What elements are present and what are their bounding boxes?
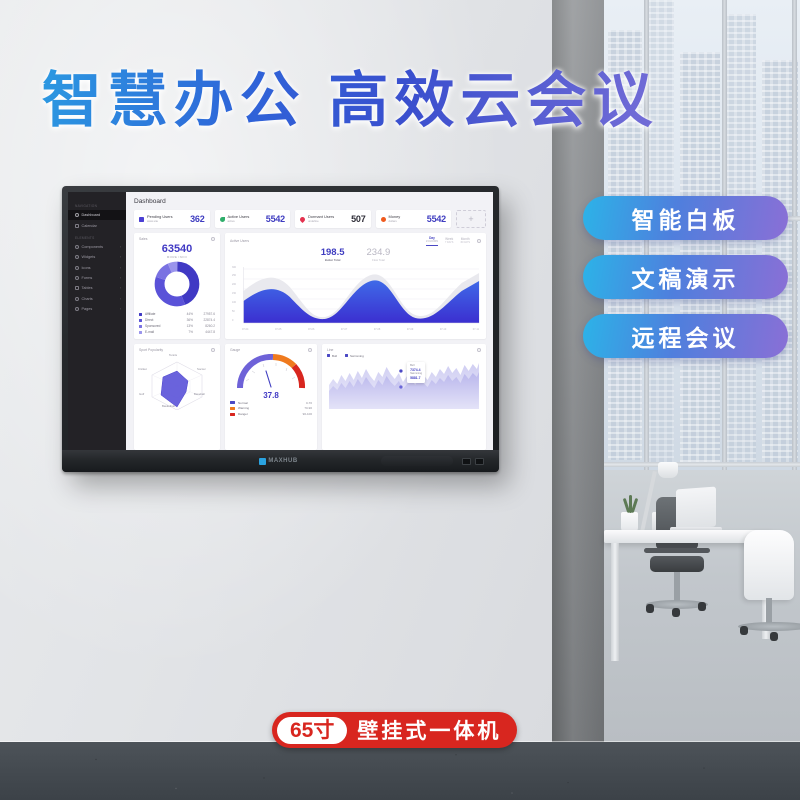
legend-label: Normal: [238, 401, 306, 405]
donut-chart: [139, 261, 215, 307]
stat-value: 5542: [266, 214, 285, 224]
page-icon: [75, 307, 79, 311]
chevron-right-icon: ›: [120, 297, 121, 301]
tab-sublabel: 30 DAYS: [460, 242, 470, 245]
white-office-chair-back: [744, 530, 794, 600]
y-tick: 100: [232, 301, 236, 304]
stat-value: 362: [190, 214, 204, 224]
sales-more-info: MORE INFO: [139, 255, 215, 259]
page-title: 智慧办公 高效云会议: [0, 62, 700, 140]
sidebar-item-widgets[interactable]: Widgets ›: [68, 252, 126, 262]
legend-color-swatch: [345, 354, 348, 357]
stat-sublabel: www.site: [147, 219, 158, 223]
stat-card-pending-users[interactable]: Pending Users www.site 362: [134, 210, 210, 228]
sidebar-item-label: Components: [82, 245, 104, 249]
feature-badge-whiteboard[interactable]: 智能白板: [583, 196, 788, 240]
gauge-legend-item: Danger 90-100: [230, 411, 312, 417]
sidebar-item-components[interactable]: Components ›: [68, 242, 126, 252]
widget-icon: [75, 255, 79, 259]
logo-mark-icon: [259, 458, 266, 465]
legend-color-swatch: [327, 354, 330, 357]
line-legend: Bull Swimming: [327, 354, 481, 358]
concrete-floor: [0, 742, 800, 800]
chevron-right-icon: ›: [120, 286, 121, 290]
chevron-right-icon: ›: [120, 266, 121, 270]
legend-color-swatch: [139, 313, 142, 316]
stat-label: Dormant Users: [308, 214, 334, 219]
legend-value: 8260.2: [193, 324, 215, 328]
line-card: Line Bull Swimming: [322, 344, 486, 450]
star-icon: [75, 266, 79, 270]
legend-item: E-mail 7% 4447.8: [139, 329, 215, 335]
add-card-button[interactable]: +: [456, 210, 486, 228]
legend-item-swimming[interactable]: Swimming: [345, 354, 364, 358]
card-title: Active Users: [230, 239, 249, 243]
stat-value: 5542: [427, 214, 446, 224]
dark-office-chair-seat: [650, 556, 704, 572]
sport-popularity-card: Sport Popularity: [134, 344, 220, 450]
form-icon: [75, 276, 79, 280]
active-users-card: Active Users Day 24 HOURS Week 7 DAYS: [225, 233, 486, 339]
totals-row: 198.5 Butter Total 234.9 Flow Total: [230, 248, 481, 262]
legend-item-bull[interactable]: Bull: [327, 354, 337, 358]
legend-label: Swimming: [350, 354, 364, 358]
flow-total-value: 234.9: [367, 248, 391, 258]
sidebar-item-label: Forms: [82, 276, 93, 280]
stat-card-row: Pending Users www.site 362 Active Users …: [134, 210, 486, 228]
feature-badge-label: 智能白板: [632, 201, 740, 235]
square-icon: [139, 217, 144, 222]
stat-card-money[interactable]: Money dollars 5542: [376, 210, 452, 228]
gauge-card: Gauge: [225, 344, 317, 450]
sidebar-item-label: Icons: [82, 266, 91, 270]
x-tick: 07-11: [473, 328, 479, 331]
flow-total-label: Flow Total: [367, 258, 391, 262]
sidebar-item-label: Widgets: [82, 255, 96, 259]
sidebar-item-forms[interactable]: Forms ›: [68, 273, 126, 283]
display-bottom-bezel: MAXHUB: [62, 450, 499, 472]
brand-logo: MAXHUB: [259, 458, 297, 465]
sidebar-item-label: Pages: [82, 307, 93, 311]
card-title: Sales: [139, 237, 147, 241]
stat-label: Pending Users: [147, 214, 173, 219]
dashboard-main: Dashboard Pending Users www.site 362: [126, 192, 493, 450]
plant-pot: [621, 512, 638, 532]
legend-value: 22874.4: [193, 318, 215, 322]
tab-month[interactable]: Month 30 DAYS: [460, 238, 470, 245]
port-usb: [462, 458, 471, 465]
sidebar-item-charts[interactable]: Charts ›: [68, 294, 126, 304]
laptop-screen: [676, 487, 716, 530]
table-icon: [75, 286, 79, 290]
radar-axis-label: Golf: [139, 392, 144, 396]
logo-text: MAXHUB: [268, 458, 297, 464]
chart-icon: [75, 297, 79, 301]
legend-percent: 13%: [179, 324, 193, 328]
radar-axis-label: Basketball: [162, 404, 175, 408]
card-title: Sport Popularity: [139, 348, 163, 352]
tab-sublabel: 24 HOURS: [426, 241, 438, 244]
port-hdmi: [475, 458, 484, 465]
x-tick: 07-07: [341, 328, 347, 331]
legend-color-swatch: [139, 319, 142, 322]
legend-label: Direct: [145, 318, 179, 322]
legend-label: Affiliate: [145, 312, 179, 316]
dashboard-title: Dashboard: [134, 198, 486, 205]
chevron-right-icon: ›: [120, 245, 121, 249]
sidebar-item-tables[interactable]: Tables ›: [68, 283, 126, 293]
chevron-right-icon: ›: [120, 307, 121, 311]
y-tick: 0: [232, 319, 233, 322]
gear-icon[interactable]: [477, 239, 481, 243]
stat-sublabel: active: [228, 219, 235, 223]
radar-axis-label: Tennis: [169, 353, 177, 357]
y-tick: 300: [232, 266, 236, 269]
gauge-legend-item: Warning 70-90: [230, 406, 312, 412]
sidebar-item-label: Charts: [82, 297, 93, 301]
x-tick: 07-05: [275, 328, 281, 331]
x-axis: 07-04 07-05 07-06 07-07 07-08 07-09 07-1…: [230, 327, 481, 331]
feature-badge-list: 智能白板 文稿演示 远程会议: [583, 196, 788, 373]
chevron-right-icon: ›: [120, 276, 121, 280]
desk-lamp-head: [658, 462, 678, 478]
y-tick: 250: [232, 274, 236, 277]
legend-percent: 36%: [179, 318, 193, 322]
gear-icon[interactable]: [211, 348, 215, 352]
legend-color-swatch: [139, 331, 142, 334]
sidebar-item-calendar[interactable]: Calendar: [68, 220, 126, 230]
legend-color-swatch: [230, 413, 235, 416]
display-screen: NAVIGATION Dashboard Calendar ELEMENTS C…: [68, 192, 493, 450]
leaf-icon: [220, 217, 225, 222]
gear-icon[interactable]: [211, 237, 215, 241]
sidebar-item-pages[interactable]: Pages ›: [68, 304, 126, 314]
legend-range: 70-90: [304, 406, 312, 410]
legend-range: 0-70: [306, 401, 312, 405]
screen-size-badge: 65寸: [277, 717, 347, 744]
plus-icon: +: [468, 214, 473, 224]
card-title: Gauge: [230, 348, 240, 352]
feature-badge-presentation[interactable]: 文稿演示: [583, 255, 788, 299]
radar-axis-label: Soccer: [197, 367, 206, 371]
butter-total-value: 198.5: [321, 248, 345, 258]
heart-icon: [299, 215, 306, 222]
radar-axis-label: Baseball: [194, 392, 205, 396]
stat-sublabel: dollars: [389, 219, 397, 223]
feature-badge-remote-meeting[interactable]: 远程会议: [583, 314, 788, 358]
legend-range: 90-100: [303, 412, 312, 416]
card-title: Line: [327, 348, 333, 352]
stat-card-dormant-users[interactable]: Dormant Users undefine 507: [295, 210, 371, 228]
legend-label: E-mail: [145, 330, 179, 334]
tab-day[interactable]: Day 24 HOURS: [426, 237, 438, 246]
y-tick: 50: [232, 310, 235, 313]
sidebar-section-navigation: NAVIGATION: [68, 199, 126, 210]
x-tick: 07-06: [308, 328, 314, 331]
gear-icon[interactable]: [477, 348, 481, 352]
sidebar-item-dashboard[interactable]: Dashboard: [68, 210, 126, 220]
y-tick: 150: [232, 292, 236, 295]
legend-percent: 7%: [179, 330, 193, 334]
stat-card-active-users[interactable]: Active Users active 5542: [215, 210, 291, 228]
sidebar-item-icons[interactable]: Icons ›: [68, 263, 126, 273]
x-tick: 07-10: [440, 328, 446, 331]
gear-icon[interactable]: [308, 348, 312, 352]
tab-week[interactable]: Week 7 DAYS: [445, 238, 453, 245]
bottom-widget-row: Sport Popularity: [134, 344, 486, 450]
wall-mounted-display: NAVIGATION Dashboard Calendar ELEMENTS C…: [62, 186, 499, 472]
calendar-icon: [75, 224, 79, 228]
chair-armrest: [644, 548, 710, 553]
feature-badge-label: 文稿演示: [632, 260, 740, 294]
feature-badge-label: 远程会议: [632, 319, 740, 353]
legend-value: 27957.6: [193, 312, 215, 316]
line-area-chart: Bull 7374.4 Swimming 5881.7: [327, 359, 481, 411]
legend-color-swatch: [230, 401, 235, 404]
radar-axis-label: Cricket: [138, 367, 147, 371]
dashboard-sidebar: NAVIGATION Dashboard Calendar ELEMENTS C…: [68, 192, 126, 450]
legend-percent: 44%: [179, 312, 193, 316]
product-banner: 65寸 壁挂式一体机: [272, 712, 517, 748]
stat-value: 507: [351, 214, 365, 224]
legend-color-swatch: [139, 325, 142, 328]
chart-tooltip: Bull 7374.4 Swimming 5881.7: [407, 362, 425, 383]
legend-label: Warning: [238, 406, 304, 410]
sidebar-item-label: Tables: [82, 286, 93, 290]
tooltip-series-value: 5881.7: [410, 376, 422, 381]
x-tick: 07-09: [407, 328, 413, 331]
gauge-legend-item: Normal 0-70: [230, 400, 312, 406]
middle-widget-row: Sales 63540 MORE INFO: [134, 233, 486, 339]
product-type-label: 壁挂式一体机: [357, 715, 501, 745]
home-icon: [75, 213, 79, 217]
y-tick: 200: [232, 283, 236, 286]
sidebar-item-label: Calendar: [82, 224, 97, 228]
sidebar-section-elements: ELEMENTS: [68, 231, 126, 242]
legend-color-swatch: [230, 407, 235, 410]
legend-value: 4447.8: [193, 330, 215, 334]
x-tick: 07-08: [374, 328, 380, 331]
tab-sublabel: 7 DAYS: [445, 242, 453, 245]
coin-icon: [381, 217, 386, 222]
stat-label: Active Users: [228, 214, 250, 219]
stat-label: Money: [389, 214, 401, 219]
sales-total: 63540: [139, 243, 215, 255]
legend-label: Sponsored: [145, 324, 179, 328]
stat-sublabel: undefine: [308, 219, 319, 223]
chevron-right-icon: ›: [120, 255, 121, 259]
radar-chart: Tennis Soccer Baseball Basketball Golf C…: [139, 354, 215, 410]
legend-label: Bull: [332, 354, 337, 358]
legend-label: Danger: [238, 412, 303, 416]
sidebar-item-label: Dashboard: [82, 213, 101, 217]
speaker-grille: [381, 456, 453, 466]
butter-total-label: Butter Total: [321, 258, 345, 262]
sales-card: Sales 63540 MORE INFO: [134, 233, 220, 339]
area-chart: 300 250 200 150 100 50 0: [230, 265, 481, 327]
grid-icon: [75, 245, 79, 249]
x-tick: 07-04: [242, 328, 248, 331]
